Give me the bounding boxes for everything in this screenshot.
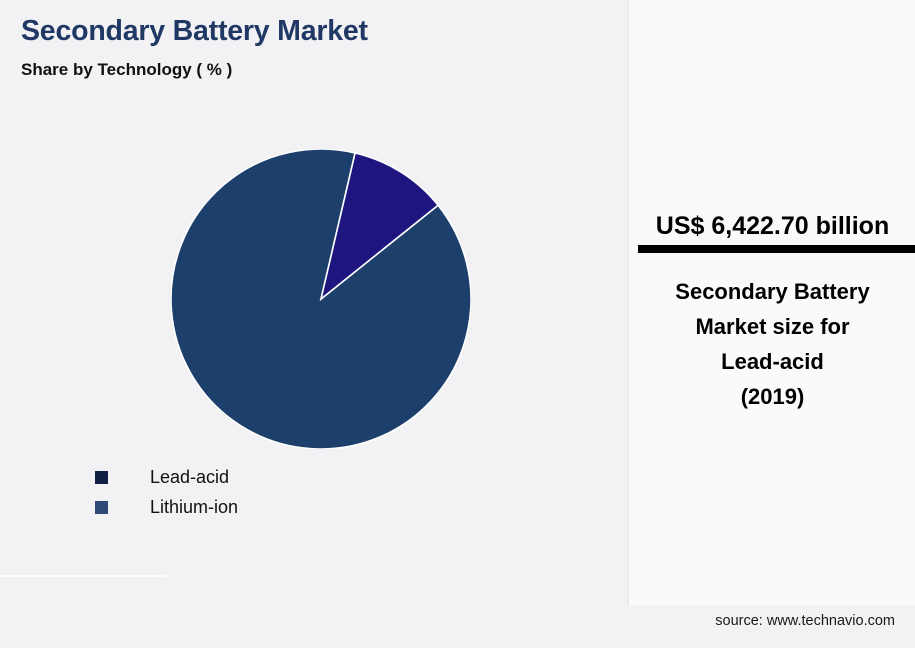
callout-divider <box>638 245 915 253</box>
page-subtitle: Share by Technology ( % ) <box>21 60 232 80</box>
callout-panel: US$ 6,422.70 billion Secondary Battery M… <box>628 0 915 606</box>
legend-swatch-icon <box>95 501 108 514</box>
pie-chart-svg <box>171 149 471 449</box>
page-title: Secondary Battery Market <box>21 15 368 48</box>
callout-description-line: (2019) <box>643 379 902 414</box>
legend-item-label: Lithium-ion <box>150 497 238 518</box>
legend-item-lead-acid[interactable]: Lead-acid <box>95 462 495 492</box>
divider-rule <box>0 575 165 577</box>
callout-value: US$ 6,422.70 billion <box>629 212 915 241</box>
callout-description: Secondary Battery Market size for Lead-a… <box>643 274 902 414</box>
legend-item-label: Lead-acid <box>150 467 229 488</box>
chart-panel: Secondary Battery Market Share by Techno… <box>0 0 628 648</box>
legend-swatch-icon <box>95 471 108 484</box>
source-note: source: www.technavio.com <box>715 613 895 629</box>
pie-chart <box>171 149 471 449</box>
legend-item-lithium-ion[interactable]: Lithium-ion <box>95 492 495 522</box>
callout-description-line: Lead-acid <box>643 344 902 379</box>
callout-description-line: Market size for <box>643 309 902 344</box>
callout-description-line: Secondary Battery <box>643 274 902 309</box>
chart-legend: Lead-acid Lithium-ion <box>95 462 495 522</box>
